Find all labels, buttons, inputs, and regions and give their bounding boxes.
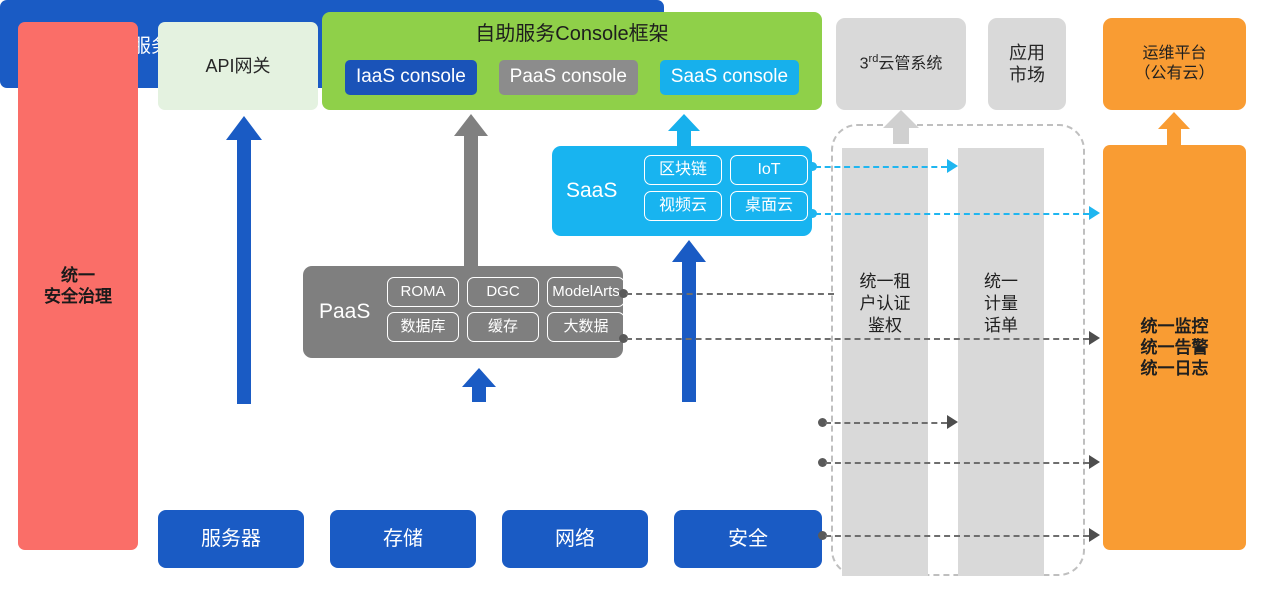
saas-chip-blockchain[interactable]: 区块链	[644, 155, 722, 185]
paas-chip-cache[interactable]: 缓存	[467, 312, 539, 342]
paas-chip-modelarts[interactable]: ModelArts	[547, 277, 625, 307]
arrowhead-paas-to-ops	[1089, 331, 1100, 345]
app-market-label: 应用 市场	[1009, 42, 1045, 87]
dashed-line-hardware-to-ops	[825, 535, 1089, 537]
api-gateway-box: API网关	[158, 22, 318, 110]
arrow-infra-to-saas	[672, 240, 706, 402]
hardware-label-network: 网络	[555, 527, 595, 552]
paas-chip-bigdata[interactable]: 大数据	[547, 312, 625, 342]
app-market-box: 应用 市场	[988, 18, 1066, 110]
saas-chip-desktop-cloud[interactable]: 桌面云	[730, 191, 808, 221]
saas-chip-video-cloud[interactable]: 视频云	[644, 191, 722, 221]
paas-layer-name: PaaS	[319, 266, 370, 358]
saas-layer-name: SaaS	[566, 146, 617, 236]
hardware-box-security: 安全	[674, 510, 822, 568]
self-service-console-frame: 自助服务Console框架 IaaS console PaaS console …	[322, 12, 822, 110]
ops-panel-label: 统一监控 统一告警 统一日志	[1141, 316, 1209, 380]
dashed-line-saas-to-metering	[815, 166, 947, 168]
dashed-line-saas-to-ops	[815, 213, 1089, 215]
arrow-infra-to-paas	[462, 368, 496, 402]
paas-console-chip[interactable]: PaaS console	[499, 60, 638, 95]
console-frame-title: 自助服务Console框架	[322, 22, 822, 47]
saas-chip-grid: 区块链 IoT 视频云 桌面云	[644, 155, 808, 221]
hardware-label-server: 服务器	[201, 527, 261, 552]
unified-monitoring-panel: 统一监控 统一告警 统一日志	[1103, 145, 1246, 550]
architecture-diagram: 统一 安全治理 API网关 自助服务Console框架 IaaS console…	[0, 0, 1265, 605]
arrowhead-infra-to-ops	[1089, 455, 1100, 469]
dashed-line-paas-to-auth	[626, 293, 834, 295]
arrowhead-hardware-to-ops	[1089, 528, 1100, 542]
saas-chip-iot[interactable]: IoT	[730, 155, 808, 185]
third-party-label: 3rd云管系统	[860, 53, 943, 74]
paas-chip-roma[interactable]: ROMA	[387, 277, 459, 307]
ops-platform-box: 运维平台 （公有云）	[1103, 18, 1246, 110]
arrow-ops-panel-to-platform	[1158, 112, 1190, 146]
arrow-saas-to-console	[668, 114, 700, 150]
tenant-auth-label: 统一租 户认证 鉴权	[860, 271, 911, 337]
saas-layer: SaaS 区块链 IoT 视频云 桌面云	[552, 146, 812, 236]
arrowhead-saas-to-ops	[1089, 206, 1100, 220]
dashed-line-paas-to-ops	[626, 338, 1089, 340]
paas-chip-grid: ROMA DGC ModelArts 数据库 缓存 大数据	[387, 277, 625, 342]
governance-label: 统一 安全治理	[44, 265, 112, 308]
ops-platform-label: 运维平台 （公有云）	[1134, 44, 1214, 84]
arrow-zone-to-third-party	[883, 110, 919, 144]
hardware-box-network: 网络	[502, 510, 648, 568]
arrow-paas-to-console	[454, 114, 488, 270]
dashed-line-infra-to-metering	[825, 422, 947, 424]
hardware-label-security: 安全	[728, 527, 768, 552]
iaas-console-chip[interactable]: IaaS console	[345, 60, 477, 95]
hardware-box-storage: 存储	[330, 510, 476, 568]
api-gateway-label: API网关	[205, 55, 270, 78]
arrow-infra-to-api-gateway	[226, 116, 262, 404]
paas-chip-database[interactable]: 数据库	[387, 312, 459, 342]
paas-chip-dgc[interactable]: DGC	[467, 277, 539, 307]
third-party-cloud-mgmt-box: 3rd云管系统	[836, 18, 966, 110]
arrowhead-infra-to-metering	[947, 415, 958, 429]
metering-label: 统一 计量 话单	[984, 271, 1018, 337]
saas-console-chip[interactable]: SaaS console	[660, 60, 799, 95]
paas-layer: PaaS ROMA DGC ModelArts 数据库 缓存 大数据	[303, 266, 623, 358]
hardware-box-server: 服务器	[158, 510, 304, 568]
arrowhead-saas-to-metering	[947, 159, 958, 173]
console-chip-row: IaaS console PaaS console SaaS console	[322, 60, 822, 95]
unified-security-governance-panel: 统一 安全治理	[18, 22, 138, 550]
hardware-label-storage: 存储	[383, 527, 423, 552]
dashed-line-infra-to-ops	[825, 462, 1089, 464]
